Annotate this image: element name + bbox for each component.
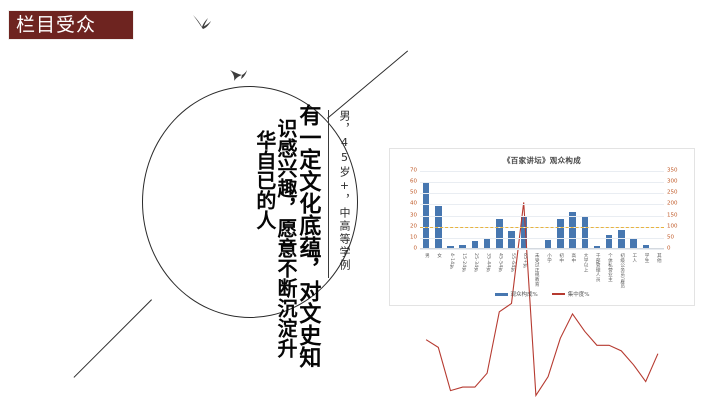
text-divider <box>328 110 329 278</box>
legend-item-line: 集中度% <box>552 290 590 298</box>
chart-y-tick-right: 100 <box>667 224 678 230</box>
legend-label-line: 集中度% <box>568 290 590 298</box>
chart-y-tick-left: 40 <box>410 202 417 208</box>
chart-y-tick-left: 70 <box>410 168 417 174</box>
audience-description: 男，45岁+，中高等学例 有一定文化底蕴，对文史知 识感兴趣，愿意不断沉淀升 华… <box>150 104 350 314</box>
audience-circle-group: 男，45岁+，中高等学例 有一定文化底蕴，对文史知 识感兴趣，愿意不断沉淀升 华… <box>0 0 400 405</box>
chart-y-tick-left: 0 <box>414 246 418 252</box>
chart-gridline <box>420 249 664 250</box>
chart-y-tick-left: 10 <box>410 235 417 241</box>
chart-y-tick-right: 250 <box>667 191 678 197</box>
audience-desc-line-1: 有一定文化底蕴，对文史知 <box>296 104 319 368</box>
chart-y-tick-left: 60 <box>410 179 417 185</box>
chart-y-tick-right: 50 <box>667 235 674 241</box>
chart-gridline <box>420 204 664 205</box>
pointer-line-bottom <box>73 299 152 378</box>
chart-y-tick-right: 200 <box>667 202 678 208</box>
chart-gridline <box>420 238 664 239</box>
chart-y-tick-right: 0 <box>667 246 671 252</box>
chart-gridline <box>420 171 664 172</box>
chart-title: 《百家讲坛》观众构成 <box>390 155 694 166</box>
chart-y-tick-right: 300 <box>667 179 678 185</box>
chart-y-tick-right: 150 <box>667 213 678 219</box>
audience-profile-line: 男，45岁+，中高等学例 <box>338 104 350 272</box>
chart-y-tick-left: 20 <box>410 224 417 230</box>
audience-desc-line-2: 识感兴趣，愿意不断沉淀升 <box>275 104 296 358</box>
chart-target-line <box>420 227 664 228</box>
chart-y-tick-left: 50 <box>410 191 417 197</box>
chart-plot-area: 001050201003015040200502506030070350 <box>420 171 664 249</box>
chart-gridline <box>420 216 664 217</box>
chart-y-tick-right: 350 <box>667 168 678 174</box>
legend-swatch-bar-icon <box>495 293 508 296</box>
legend-item-bar: 观众构成% <box>495 290 538 298</box>
chart-legend: 观众构成% 集中度% <box>390 290 694 298</box>
chart-y-tick-left: 30 <box>410 213 417 219</box>
chart-gridline <box>420 193 664 194</box>
legend-label-bar: 观众构成% <box>511 290 538 298</box>
audience-desc-line-3: 华自已的人 <box>254 104 275 230</box>
audience-composition-chart: 《百家讲坛》观众构成 00105020100301504020050250603… <box>389 148 695 306</box>
legend-swatch-line-icon <box>552 293 565 295</box>
chart-gridline <box>420 182 664 183</box>
slide-canvas: 栏目受众 男，45岁+，中高等学例 有一定文化底蕴，对文史知 识感兴趣，愿意不断… <box>0 0 720 405</box>
